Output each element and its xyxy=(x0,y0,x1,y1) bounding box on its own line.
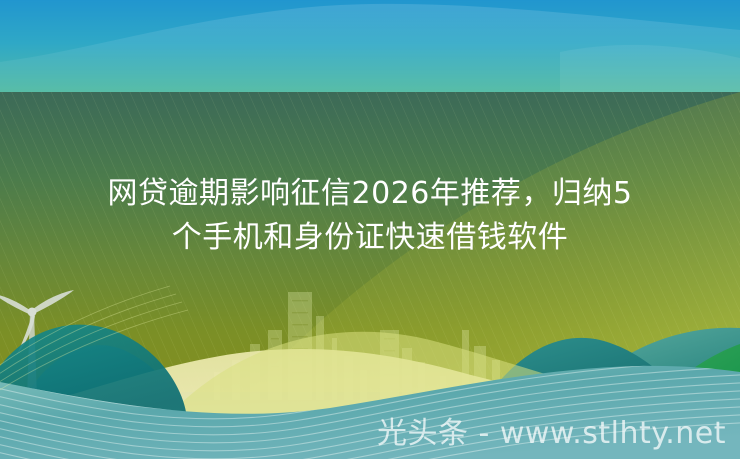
site-watermark: 光头条 - www.stlhty.net xyxy=(377,417,726,451)
poster-artwork xyxy=(0,0,740,459)
sky-gradient xyxy=(0,0,740,96)
poster-banner: 网贷逾期影响征信2026年推荐，归纳5 个手机和身份证快速借钱软件 光头条 - … xyxy=(0,0,740,459)
